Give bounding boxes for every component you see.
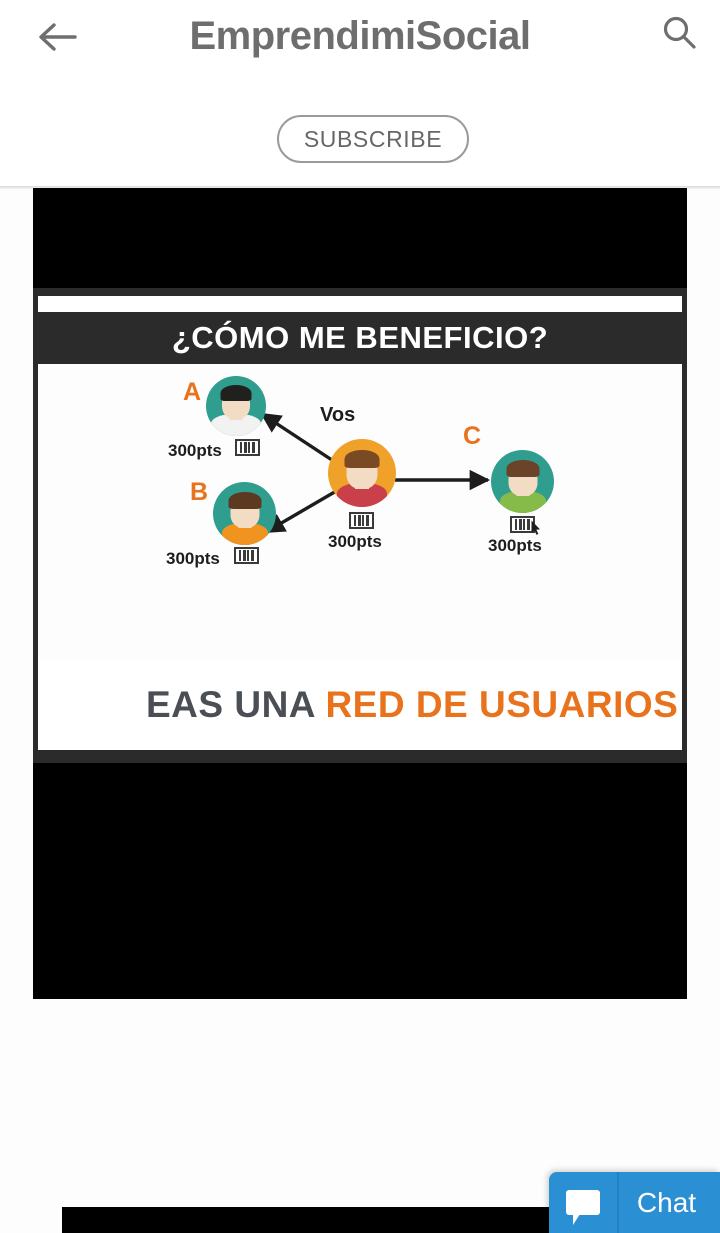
node-a-avatar [206, 376, 266, 436]
node-c-letter: C [463, 422, 481, 451]
node-b-barcode-icon [234, 547, 259, 564]
search-button[interactable] [648, 6, 710, 64]
chat-widget-button[interactable]: Chat [549, 1172, 720, 1233]
slide-heading: ¿CÓMO ME BENEFICIO? [172, 320, 548, 356]
back-arrow-icon [37, 20, 77, 54]
search-icon [660, 14, 698, 57]
slide-header: ¿CÓMO ME BENEFICIO? [33, 314, 687, 362]
node-a-barcode-icon [235, 439, 260, 456]
node-a-letter: A [183, 378, 201, 407]
back-button[interactable] [26, 8, 88, 66]
slide-footer: EAS UNA RED DE USUARIOS [38, 660, 682, 750]
center-node-points: 300pts [328, 532, 382, 552]
channel-title: EmprendimiSocial [110, 5, 610, 67]
slide-diagram: A 300pts B 30 [38, 364, 682, 660]
chat-label: Chat [619, 1187, 720, 1219]
center-node-label: Vos [320, 404, 355, 427]
slide-footer-text-accent: RED DE USUARIOS [325, 684, 678, 725]
video-player[interactable]: ¿CÓMO ME BENEFICIO? [33, 188, 687, 999]
node-a-points: 300pts [168, 441, 222, 461]
node-b-letter: B [190, 478, 208, 507]
mouse-cursor-icon [531, 520, 541, 536]
chat-icon-cell[interactable] [549, 1172, 619, 1233]
center-node-barcode-icon [349, 512, 374, 529]
center-node-avatar [328, 439, 396, 507]
slide-footer-text-primary: EAS UNA [146, 684, 325, 725]
node-b-avatar [213, 482, 276, 545]
presentation-slide: ¿CÓMO ME BENEFICIO? [33, 288, 687, 763]
node-c-points: 300pts [488, 536, 542, 556]
subscribe-button[interactable]: SUBSCRIBE [277, 115, 469, 163]
video-page: EmprendimiSocial SUBSCRIBE ¿CÓMO ME BENE… [0, 0, 720, 1233]
node-b-points: 300pts [166, 549, 220, 569]
node-c-avatar [491, 450, 554, 513]
slide-top-strip [38, 296, 682, 312]
header-divider [0, 186, 720, 190]
chat-bubble-icon [566, 1190, 600, 1215]
app-header: EmprendimiSocial SUBSCRIBE [0, 0, 720, 186]
